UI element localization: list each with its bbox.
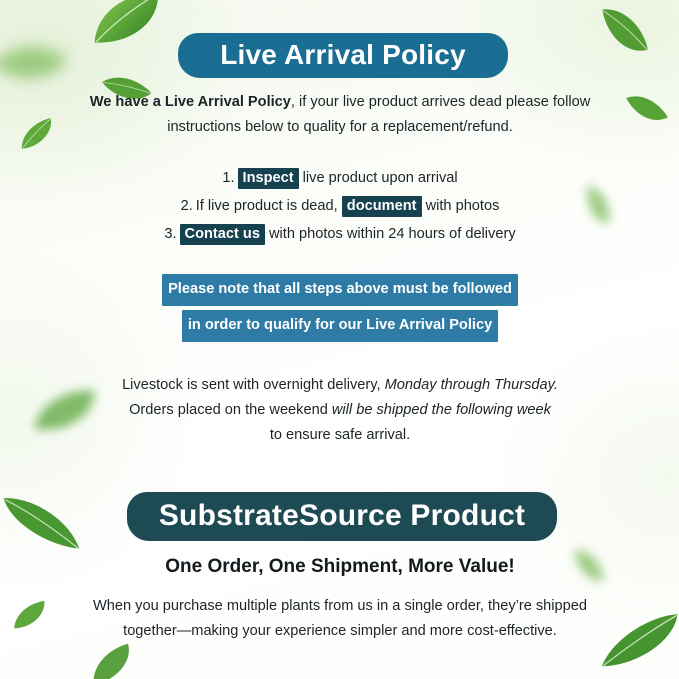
- list-item: 2.If live product is dead, document with…: [60, 192, 620, 220]
- shipping-line-2-plain: Orders placed on the weekend: [129, 402, 332, 418]
- live-arrival-policy-banner: Live Arrival Policy: [178, 33, 508, 78]
- leaf-icon: [80, 0, 174, 57]
- shipping-line-1-plain: Livestock is sent with overnight deliver…: [122, 377, 385, 393]
- list-item: 3.Contact us with photos within 24 hours…: [60, 220, 620, 248]
- step-text-before: If live product is dead,: [196, 198, 342, 214]
- intro-line-1: We have a Live Arrival Policy, if your l…: [60, 90, 620, 115]
- step-number: 2.: [181, 198, 193, 214]
- leaf-icon: [585, 0, 660, 71]
- intro-lead-bold: We have a Live Arrival Policy: [90, 94, 291, 110]
- policy-note-row-2: in order to qualify for our Live Arrival…: [60, 310, 620, 342]
- policy-note-line-2: in order to qualify for our Live Arrival…: [182, 310, 498, 342]
- step-number: 3.: [164, 226, 176, 242]
- intro-line-2: instructions below to quality for a repl…: [60, 115, 620, 140]
- leaf-icon: [0, 479, 95, 565]
- shipping-line-1-italic: Monday through Thursday.: [385, 377, 558, 393]
- step-number: 1.: [222, 170, 234, 186]
- step-text-after: live product upon arrival: [299, 170, 458, 186]
- step-keyword-inspect: Inspect: [238, 168, 299, 189]
- leaf-icon: [8, 108, 65, 161]
- shipping-line-3: to ensure safe arrival.: [60, 423, 620, 448]
- step-text-after: with photos: [422, 198, 500, 214]
- steps-list: 1.Inspect live product upon arrival 2.If…: [60, 164, 620, 248]
- substratesource-product-banner: SubstrateSource Product: [127, 492, 557, 541]
- intro-paragraph: We have a Live Arrival Policy, if your l…: [60, 90, 620, 140]
- shipping-schedule-paragraph: Livestock is sent with overnight deliver…: [60, 373, 620, 448]
- leaf-icon: [3, 592, 57, 641]
- shipping-line-2: Orders placed on the weekend will be shi…: [60, 398, 620, 423]
- intro-line-1-rest: , if your live product arrives dead plea…: [291, 94, 590, 110]
- bundle-line-1: When you purchase multiple plants from u…: [60, 594, 620, 619]
- bundle-line-2: together—making your experience simpler …: [60, 619, 620, 644]
- leaf-icon: [617, 81, 676, 138]
- bundle-paragraph: When you purchase multiple plants from u…: [60, 594, 620, 644]
- policy-note-row-1: Please note that all steps above must be…: [60, 274, 620, 306]
- step-keyword-contact-us: Contact us: [180, 224, 265, 245]
- step-keyword-document: document: [342, 196, 422, 217]
- live-arrival-policy-infographic: Live Arrival Policy We have a Live Arriv…: [0, 0, 679, 679]
- shipping-line-1: Livestock is sent with overnight deliver…: [60, 373, 620, 398]
- policy-note-block: Please note that all steps above must be…: [60, 274, 620, 346]
- leaf-icon: [0, 30, 73, 97]
- bundle-headline: One Order, One Shipment, More Value!: [60, 556, 620, 578]
- shipping-line-2-italic: will be shipped the following week: [332, 402, 551, 418]
- policy-note-line-1: Please note that all steps above must be…: [162, 274, 518, 306]
- list-item: 1.Inspect live product upon arrival: [60, 164, 620, 192]
- step-text-after: with photos within 24 hours of delivery: [265, 226, 516, 242]
